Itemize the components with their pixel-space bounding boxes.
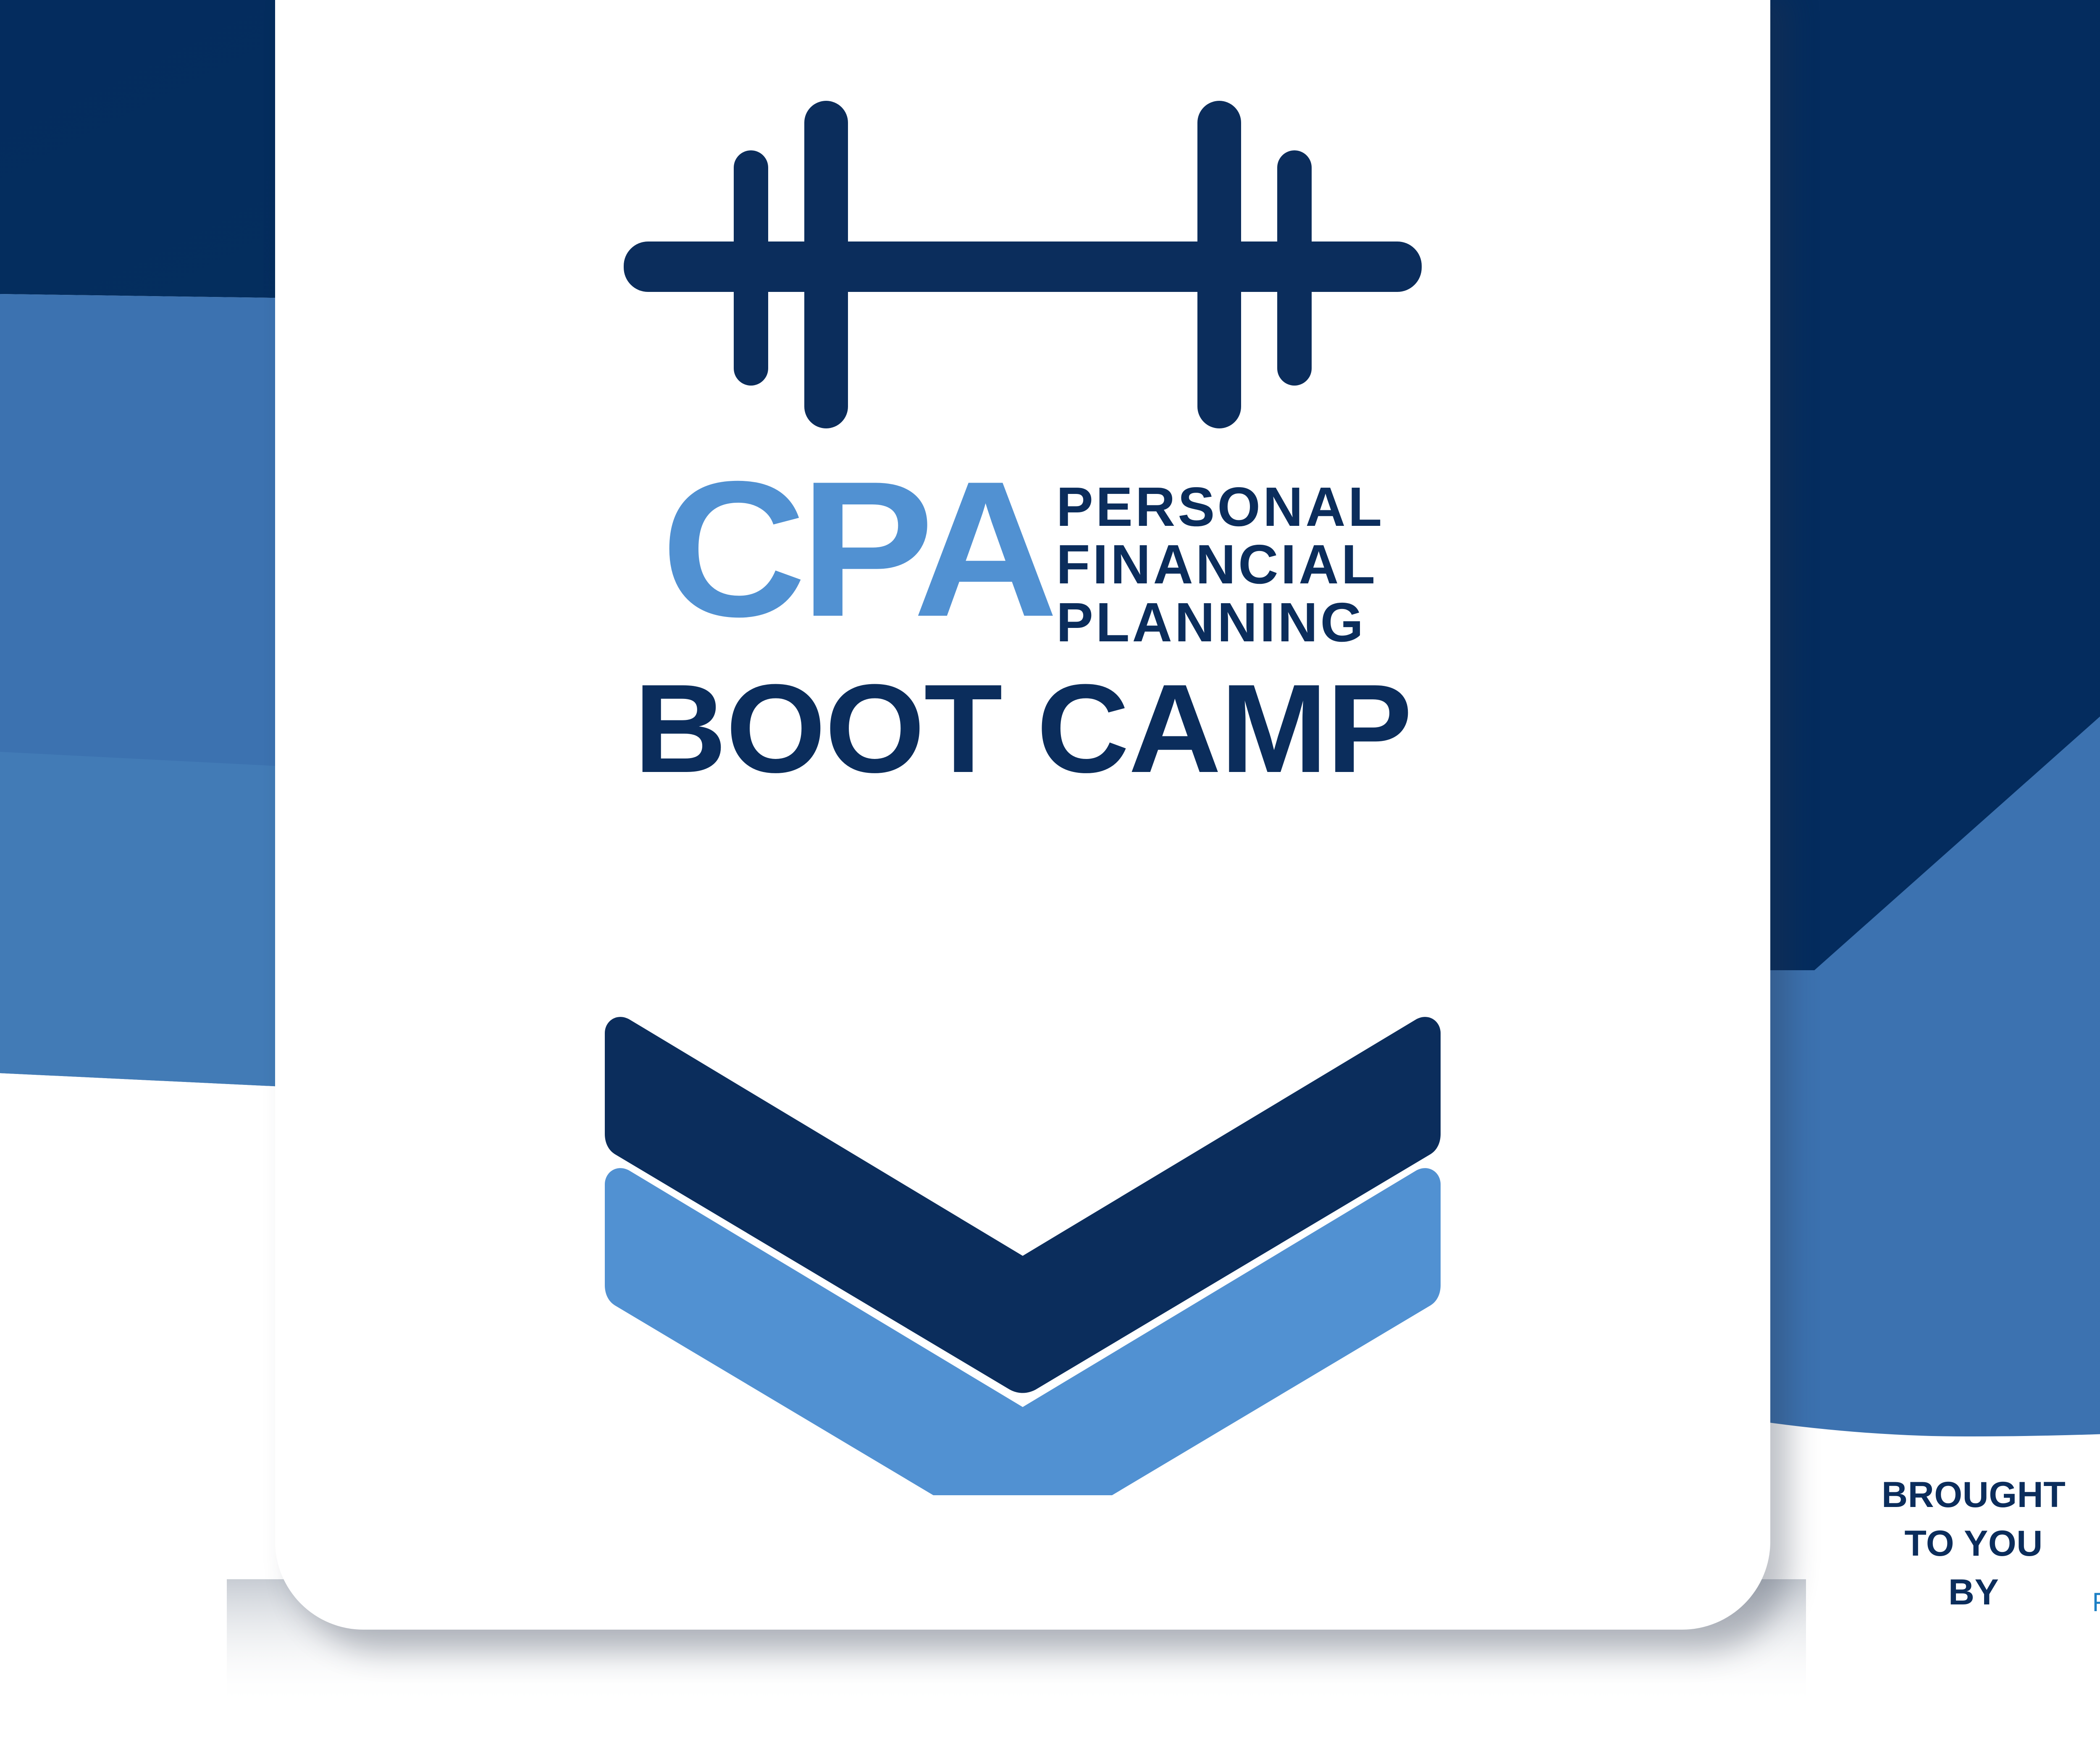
logo-lockup: CPA PERSONAL FINANCIAL PLANNING BOOT CAM… — [275, 470, 1770, 791]
event-venue-line-2: AT UNIVERSAL ORLANDO — [1907, 915, 2100, 982]
event-affiliation-line-2: CO-LOCATED EVENT — [1907, 750, 2100, 817]
logo-bootcamp: BOOT CAMP — [260, 665, 1785, 791]
ficpa-tagline: Florida Institute of Certified Public Ac… — [2092, 1587, 2100, 1617]
event-time: 8 AM TO 5 PM — [1907, 587, 2100, 653]
ficpa-logo[interactable]: F CPA Florida Institute of Certified Pub… — [2091, 1410, 2100, 1631]
brought-line-2: TO YOU BY — [1882, 1519, 2066, 1617]
register-today-headline: register today! — [1936, 256, 2100, 378]
event-venue: LOEWS SAPPHIRE FALLS RESORT AT UNIVERSAL… — [1907, 848, 2100, 982]
event-date: MONDAY, JUNE 10, 2024 — [1907, 491, 2100, 557]
chevron-double-icon — [592, 1008, 1453, 1495]
event-venue-line-1: LOEWS SAPPHIRE FALLS RESORT — [1907, 848, 2100, 915]
barbell-icon — [624, 101, 1422, 428]
banner-canvas: CPA PERSONAL FINANCIAL PLANNING BOOT CAM… — [0, 0, 2100, 1759]
sponsor-row: BROUGHT TO YOU BY F CPA Florida Institut… — [1882, 1365, 2100, 1659]
brought-line-1: BROUGHT — [1882, 1470, 2066, 1519]
descriptor-line-3: PLANNING — [1056, 593, 1384, 651]
event-affiliation: 2024 MEGA CONFERENCE CO-LOCATED EVENT — [1907, 683, 2100, 817]
descriptor-line-1: PERSONAL — [1056, 478, 1384, 536]
brought-to-you-by-label: BROUGHT TO YOU BY — [1882, 1470, 2066, 1617]
logo-cpa-word: CPA — [661, 472, 1052, 627]
ficpa-letter-f: F — [2098, 1418, 2100, 1606]
event-details: MONDAY, JUNE 10, 2024 8 AM TO 5 PM 2024 … — [1907, 491, 2100, 1012]
event-affiliation-line-1: 2024 MEGA CONFERENCE — [1907, 683, 2100, 750]
ficpa-logo-mark: F CPA Florida Institute of Certified Pub… — [2091, 1410, 2100, 1629]
logo-descriptor: PERSONAL FINANCIAL PLANNING — [1056, 470, 1384, 651]
descriptor-line-2: FINANCIAL — [1056, 536, 1384, 593]
logo-card: CPA PERSONAL FINANCIAL PLANNING BOOT CAM… — [275, 0, 1770, 1630]
chevron-graphic — [275, 1008, 1770, 1495]
